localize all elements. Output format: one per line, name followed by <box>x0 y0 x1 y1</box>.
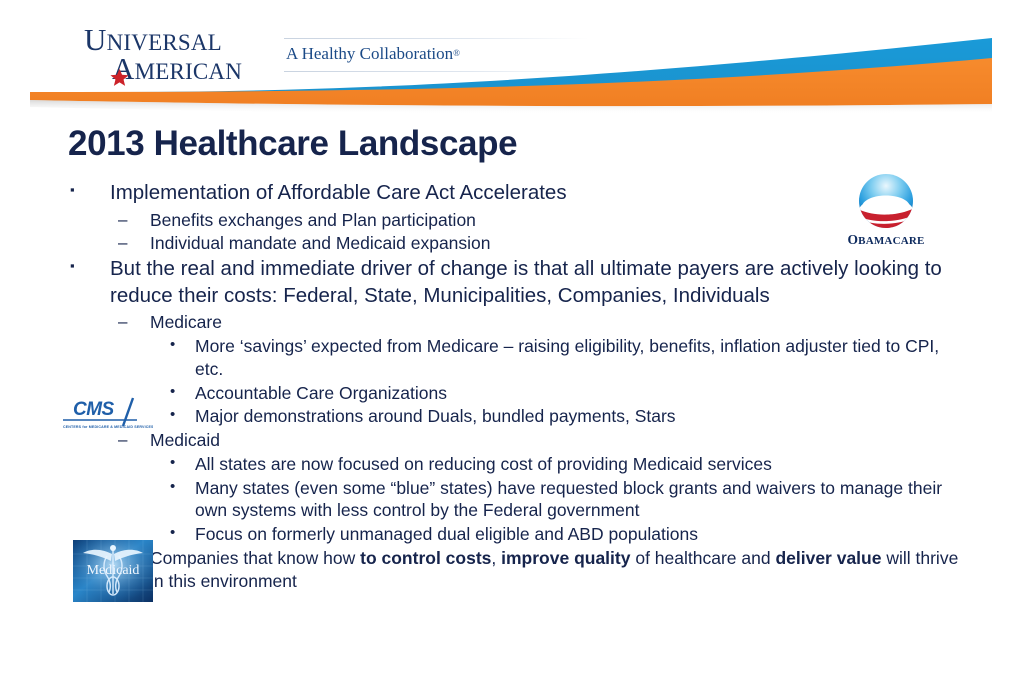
medicaid-logo: Medicaid <box>73 540 153 602</box>
emphasis-text: improve quality <box>501 548 630 568</box>
tagline-block: A Healthy Collaboration® <box>284 38 589 78</box>
outline-item-l3: •Accountable Care Organizations <box>0 382 1031 405</box>
tagline-rule-bottom <box>284 71 589 72</box>
round-bullet-icon: • <box>170 335 195 355</box>
round-bullet-icon: • <box>170 405 195 425</box>
outline-item-l2: –Medicaid <box>0 429 1031 452</box>
outline-item-text: Major demonstrations around Duals, bundl… <box>195 405 965 428</box>
logo-line-universal: UNIVERSAL <box>84 24 222 55</box>
cms-subtitle: CENTERS for MEDICARE & MEDICAID SERVICES <box>63 425 153 429</box>
outline-item-text: Medicaid <box>150 429 970 452</box>
obamacare-caption: OBAMACARE <box>847 232 924 247</box>
outline-item-text: Accountable Care Organizations <box>195 382 965 405</box>
outline-item-l2: –Companies that know how to control cost… <box>0 547 1031 593</box>
logo-universal-initial: U <box>84 22 107 57</box>
page-title: 2013 Healthcare Landscape <box>68 124 517 164</box>
registered-mark-icon: ® <box>453 48 460 58</box>
plain-text: Companies that know how <box>150 548 360 568</box>
obamacare-logo: OBAMACARE <box>840 172 932 250</box>
dash-bullet-icon: – <box>118 209 150 231</box>
round-bullet-icon: • <box>170 453 195 473</box>
universal-american-logo: UNIVERSAL AMERICAN <box>84 24 264 86</box>
medicaid-caption: Medicaid <box>87 563 140 578</box>
outline-item-l3: •Many states (even some “blue” states) h… <box>0 477 1031 523</box>
outline-item-text: Many states (even some “blue” states) ha… <box>195 477 965 523</box>
dash-bullet-icon: – <box>118 232 150 254</box>
round-bullet-icon: • <box>170 477 195 497</box>
plain-text: of healthcare and <box>630 548 775 568</box>
dash-bullet-icon: – <box>118 311 150 333</box>
cms-wordmark: CMS <box>73 399 115 420</box>
round-bullet-icon: • <box>170 382 195 402</box>
emphasis-text: deliver value <box>775 548 881 568</box>
emphasis-text: to control costs <box>360 548 491 568</box>
square-bullet-icon: ▪ <box>70 256 110 276</box>
tagline-label: A Healthy Collaboration <box>286 44 453 63</box>
star-icon <box>110 68 129 87</box>
logo-american-rest: MERICAN <box>135 59 242 84</box>
outline-item-l3: •More ‘savings’ expected from Medicare –… <box>0 335 1031 381</box>
cms-logo: CMS CENTERS for MEDICARE & MEDICAID SERV… <box>57 396 153 434</box>
tagline-rule-top <box>284 38 589 39</box>
outline-item-text: All states are now focused on reducing c… <box>195 453 965 476</box>
outline-item-text: More ‘savings’ expected from Medicare – … <box>195 335 965 381</box>
plain-text: , <box>491 548 501 568</box>
round-bullet-icon: • <box>170 523 195 543</box>
slide-header: UNIVERSAL AMERICAN A Healthy Collaborati… <box>0 0 1031 118</box>
outline-item-text: Companies that know how to control costs… <box>150 547 970 593</box>
outline-item-text: But the real and immediate driver of cha… <box>110 256 990 309</box>
square-bullet-icon: ▪ <box>70 180 110 200</box>
outline-item-text: Medicare <box>150 311 970 334</box>
outline-item-l3: •Major demonstrations around Duals, bund… <box>0 405 1031 428</box>
outline-item-l3: •All states are now focused on reducing … <box>0 453 1031 476</box>
outline-item-text: Focus on formerly unmanaged dual eligibl… <box>195 523 965 546</box>
outline-item-l3: •Focus on formerly unmanaged dual eligib… <box>0 523 1031 546</box>
outline-item-l1: ▪But the real and immediate driver of ch… <box>0 256 1031 309</box>
tagline-text: A Healthy Collaboration® <box>286 44 460 64</box>
outline-item-l2: –Medicare <box>0 311 1031 334</box>
logo-line-american: AMERICAN <box>112 53 242 84</box>
